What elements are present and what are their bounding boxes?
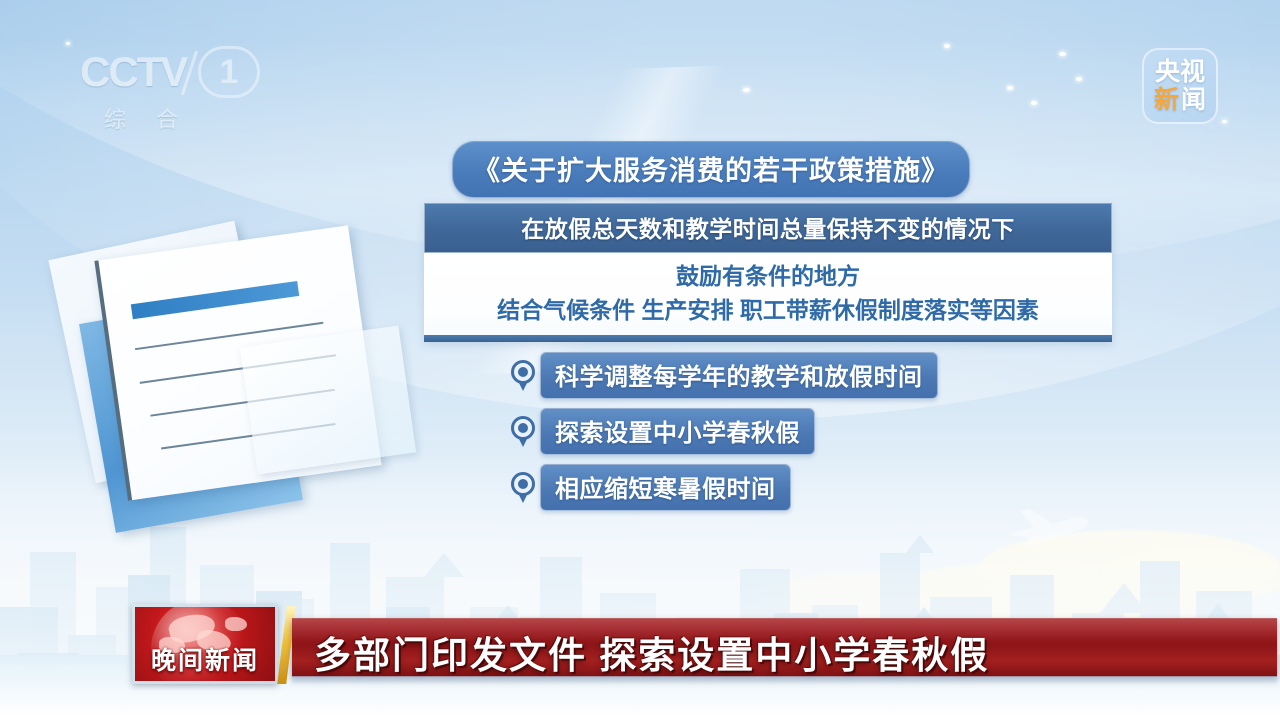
document-illustration: [62, 228, 422, 528]
news-badge-text-xin: 新: [1154, 87, 1179, 114]
policy-panel-header-text: 在放假总天数和教学时间总量保持不变的情况下: [521, 216, 1015, 242]
banner-base-shadow: [292, 676, 1277, 684]
list-item: 探索设置中小学春秋假: [508, 408, 938, 455]
policy-bullet-list: 科学调整每学年的教学和放假时间 探索设置中小学春秋假 相应缩短寒暑假时间: [508, 352, 938, 520]
policy-bullet-text: 科学调整每学年的教学和放假时间: [555, 364, 923, 391]
policy-panel: 在放假总天数和教学时间总量保持不变的情况下 鼓励有条件的地方 结合气候条件 生产…: [424, 203, 1112, 342]
sparkle-star: [1007, 86, 1013, 90]
news-badge-line-2: 新 闻: [1154, 87, 1206, 114]
continent-shape: [225, 617, 247, 631]
broadcast-frame: CCTV 1 综 合 央视 新 闻 《关于扩大服务消费的若干政策措施》: [0, 0, 1280, 717]
policy-bullet-text: 探索设置中小学春秋假: [555, 420, 800, 447]
sparkle-star: [66, 42, 70, 45]
policy-bullet-chip: 相应缩短寒暑假时间: [540, 464, 791, 511]
cctv-channel-subtitle: 综 合: [104, 102, 190, 134]
program-logo: 晚间新闻: [132, 604, 278, 684]
sparkle-star: [1222, 120, 1227, 123]
policy-panel-body-line: 鼓励有条件的地方: [425, 259, 1111, 293]
cctv-news-badge: 央视 新 闻: [1142, 48, 1218, 124]
sparkle-star: [1076, 77, 1082, 81]
cctv-channel-logo: CCTV 1 综 合: [80, 48, 260, 132]
policy-panel-header: 在放假总天数和教学时间总量保持不变的情况下: [424, 203, 1112, 253]
policy-bullet-chip: 探索设置中小学春秋假: [540, 408, 815, 455]
sparkle-star: [1031, 101, 1037, 105]
policy-panel-body-line: 结合气候条件 生产安排 职工带薪休假制度落实等因素: [425, 293, 1111, 327]
news-badge-text-top: 央视: [1155, 59, 1205, 86]
sparkle-star: [944, 44, 950, 48]
document-sheet-overlay: [240, 325, 416, 474]
headline-text: 多部门印发文件 探索设置中小学春秋假: [314, 625, 989, 679]
policy-document-title: 《关于扩大服务消费的若干政策措施》: [452, 141, 970, 198]
location-pin-target-icon: [508, 471, 540, 505]
program-logo-inner: 晚间新闻: [135, 607, 275, 681]
sparkle-star: [743, 88, 750, 92]
list-item: 相应缩短寒暑假时间: [508, 464, 938, 511]
headline-banner: 多部门印发文件 探索设置中小学春秋假: [292, 618, 1277, 677]
policy-document-title-text: 《关于扩大服务消费的若干政策措施》: [473, 156, 949, 186]
location-pin-target-icon: [508, 415, 540, 449]
location-pin-target-icon: [508, 359, 540, 393]
news-badge-text-wen: 闻: [1181, 87, 1206, 114]
list-item: 科学调整每学年的教学和放假时间: [508, 352, 938, 399]
sparkle-star: [1059, 52, 1066, 56]
document-heading-bar: [131, 281, 299, 319]
cctv-channel-number: 1: [198, 46, 260, 98]
policy-panel-footer-bar: [424, 335, 1112, 342]
policy-bullet-text: 相应缩短寒暑假时间: [555, 476, 776, 503]
policy-bullet-chip: 科学调整每学年的教学和放假时间: [540, 352, 938, 399]
program-logo-text: 晚间新闻: [135, 641, 275, 677]
cctv-channel-number-text: 1: [201, 49, 257, 95]
policy-panel-body: 鼓励有条件的地方 结合气候条件 生产安排 职工带薪休假制度落实等因素: [424, 253, 1112, 335]
news-badge-line-1: 央视: [1155, 59, 1205, 86]
